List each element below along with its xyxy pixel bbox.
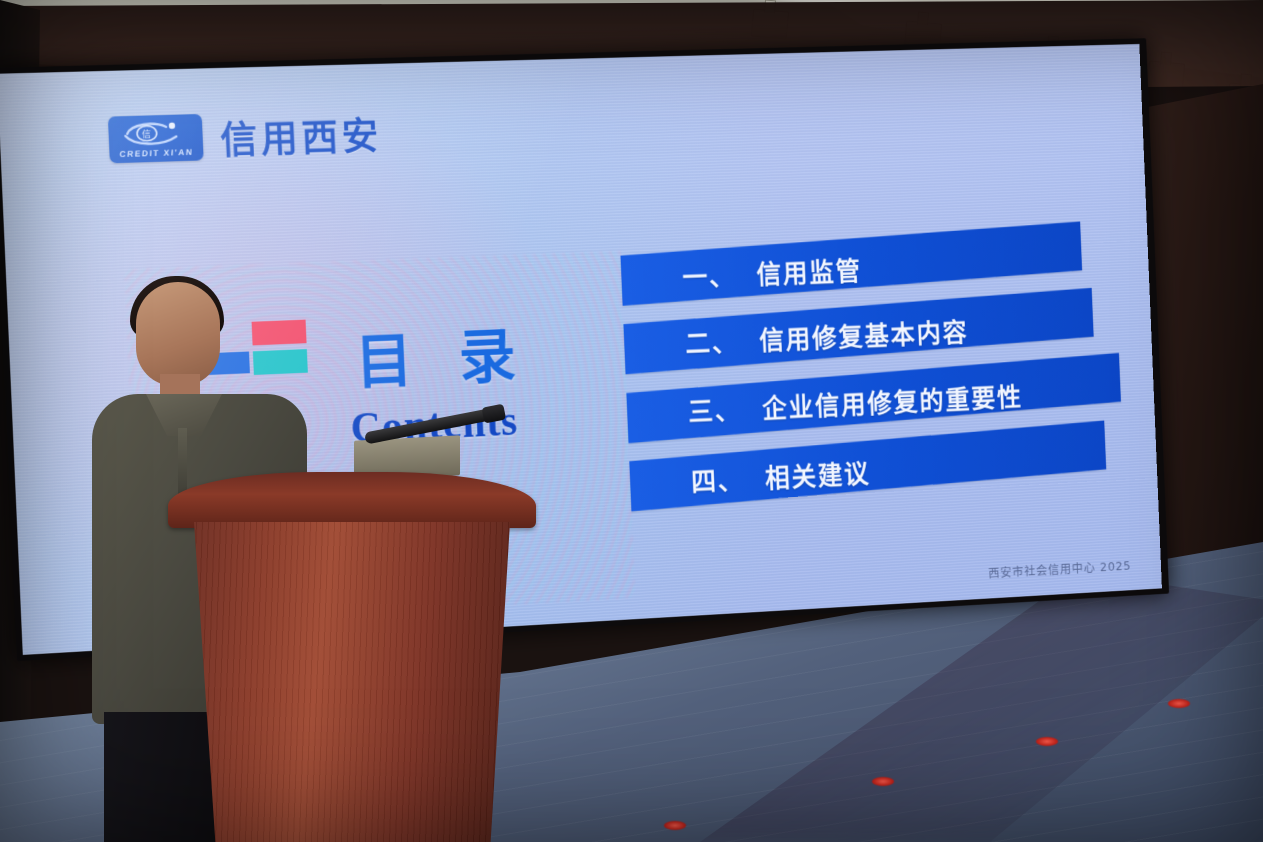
floor-led-marker-2 [872, 777, 894, 786]
slide-brand-header: 信 CREDIT XI'AN 信用西安 [108, 105, 383, 167]
agenda-item-2-label: 二、 信用修复基本内容 [684, 312, 969, 361]
speaker-podium [168, 472, 548, 842]
logo-wordmark: 信用西安 [219, 105, 383, 164]
agenda-list: 一、 信用监管 二、 信用修复基本内容 三、 企业信用修复的重要性 四、 相关建… [620, 228, 1135, 520]
agenda-item-4-label: 四、 相关建议 [690, 453, 871, 499]
svg-text:信: 信 [142, 128, 151, 140]
floor-led-marker-4 [1168, 699, 1190, 708]
page-title-cn: 目 录 [353, 306, 594, 401]
floor-led-marker-1 [664, 821, 686, 830]
credit-xian-logo-icon: 信 CREDIT XI'AN [108, 114, 204, 163]
podium-top [168, 472, 536, 528]
presenter-head [136, 282, 220, 386]
slide-footer: 西安市社会信用中心 2025 [988, 555, 1132, 581]
presentation-photo-scene: 信 CREDIT XI'AN 信用西安 目 录 Contents [0, 0, 1263, 842]
agenda-item-1-label: 一、 信用监管 [682, 251, 863, 295]
floor-led-marker-3 [1036, 737, 1058, 746]
swoosh-emblem-icon: 信 [121, 120, 189, 148]
podium-body [190, 522, 514, 842]
podium-wood-grain [190, 522, 514, 842]
logo-badge-text: CREDIT XI'AN [109, 147, 203, 160]
agenda-item-3-label: 三、 企业信用修复的重要性 [687, 376, 1023, 429]
